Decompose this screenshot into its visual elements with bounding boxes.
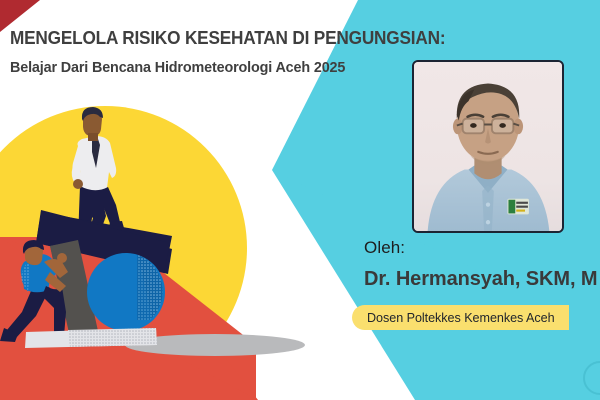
presenter-portrait xyxy=(414,62,562,231)
page-subtitle: Belajar Dari Bencana Hidrometeorologi Ac… xyxy=(10,58,404,78)
page-title: MENGELOLA RISIKO KESEHATAN DI PENGUNGSIA… xyxy=(10,27,382,49)
title-block: MENGELOLA RISIKO KESEHATAN DI PENGUNGSIA… xyxy=(10,27,410,78)
affiliation-badge: Dosen Poltekkes Kemenkes Aceh xyxy=(352,305,569,330)
presenter-photo-frame xyxy=(412,60,564,233)
presented-by-label: Oleh: xyxy=(364,238,597,258)
presenter-name: Dr. Hermansyah, SKM, M xyxy=(364,267,597,291)
credit-block: Oleh: Dr. Hermansyah, SKM, M xyxy=(364,238,597,291)
grey-platform-texture xyxy=(68,328,157,347)
affiliation-text: Dosen Poltekkes Kemenkes Aceh xyxy=(367,311,555,325)
presentation-slide: MENGELOLA RISIKO KESEHATAN DI PENGUNGSIA… xyxy=(0,0,600,400)
